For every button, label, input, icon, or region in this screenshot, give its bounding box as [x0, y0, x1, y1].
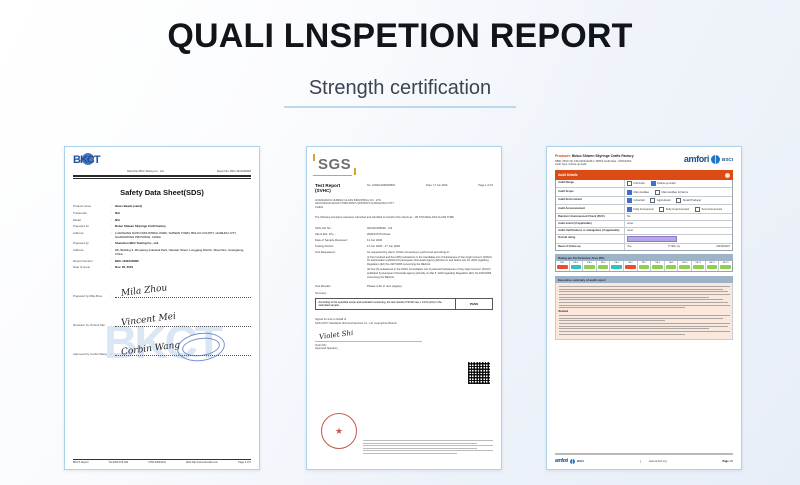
table-row: Overall rating	[556, 235, 732, 244]
rating-pill	[679, 265, 690, 269]
signature-row: Reviewer by Vincent Mei : Vincent Mei	[73, 314, 251, 327]
sds-field: Model:N/A	[73, 218, 251, 222]
rating-pill	[639, 265, 650, 269]
sgs-summary-text: According to the specified scope and eva…	[316, 299, 456, 310]
subtitle-wrap: Strength certification	[284, 77, 516, 108]
rating-pill	[598, 265, 609, 269]
rating-cell: PA 8	[651, 261, 665, 271]
producer-name: Boluo Shiwen Skyringe Crafts Factory	[572, 154, 634, 158]
rating-cell: PA 10	[678, 261, 692, 271]
sgs-field: Testing Period :11 Jun 2020 - 17 Jun 202…	[315, 244, 493, 248]
sgs-summary-box: According to the specified scope and eva…	[315, 298, 493, 311]
rating-cell: PA 5	[610, 261, 624, 271]
audit-details-table: Audit Range Full Audit Follow-up Audit A…	[555, 180, 733, 251]
signature-row: Approved by Corbin Wang : Corbin Wang	[73, 343, 251, 356]
sds-testing-company: Shenzhen BKC Testing Co., Ltd.	[127, 170, 164, 173]
sds-field: Date of Issue:Nov. 26, 2019	[73, 265, 251, 269]
ratings-grid: PA 1 PA 2 PA 3 PA 4 PA 5 PA 6 PA 7 PA 8 …	[555, 261, 733, 272]
ratings-header: Rating per Performance Area (PA)	[555, 254, 733, 261]
sgs-field: Test Requested : As requested by client,…	[315, 250, 493, 280]
subtitle-underline	[284, 106, 516, 108]
sgs-test-results: Test Results : Please refer to next page…	[315, 284, 493, 288]
page-title: QUALI LNSPETION REPORT	[0, 18, 800, 55]
rating-cell: PA 9	[665, 261, 679, 271]
sds-field: Report Number:BKC-191103460R	[73, 259, 251, 263]
table-row: Audit Announcement Fully Announced Fully…	[556, 205, 732, 214]
rating-cell: PA 6	[624, 261, 638, 271]
table-row: Audit extent (if applicable) none	[556, 221, 732, 228]
executive-summary-body: Remark	[555, 283, 733, 339]
rating-pill	[611, 265, 622, 269]
sds-field: Product name:Glass Beads (sand)	[73, 204, 251, 208]
rating-pill	[693, 265, 704, 269]
rating-pill	[666, 265, 677, 269]
report-banner: QUALI LNSPETION REPORT Strength certific…	[0, 0, 800, 485]
audit-details-header: Audit Details	[555, 170, 733, 179]
collapse-icon[interactable]	[725, 173, 730, 178]
sgs-requested-item: (ii) Five (5) substances in the Public C…	[367, 268, 493, 279]
sds-footer: BKC'S Report Tel:4000-575-392 0755-32923…	[73, 459, 251, 465]
sds-rule-thick	[73, 175, 251, 177]
executive-summary-header: Executive summary of audit report	[555, 276, 733, 283]
sds-field: Prepared for:Boluo Shiwen Skyringe Craft…	[73, 224, 251, 228]
sgs-page: Page 1 of 16	[478, 184, 493, 187]
signature-mark: Vincent Mei	[121, 312, 177, 329]
table-row: Audit Scope Main Auditee Main Auditee & …	[556, 188, 732, 197]
rating-pill	[584, 265, 595, 269]
certificate-card-amfori[interactable]: Producer: Boluo Shiwen Skyringe Crafts F…	[546, 146, 742, 470]
sgs-field: Date of Sample Received :11 Jun 2020	[315, 238, 493, 242]
table-row: Need of follow-up Yes If YES, by 09/10/2…	[556, 244, 732, 250]
rating-pill	[557, 265, 568, 269]
producer-meta-2: Audit Type: Follow-up Audit	[555, 163, 634, 166]
producer-label: Producer:	[555, 154, 571, 158]
signature-mark: Corbin Wang	[121, 341, 181, 358]
overall-rating-bar	[627, 236, 677, 241]
sgs-signature-section: Signed for and on behalf of SGS-CSTC Sta…	[315, 318, 493, 350]
rating-pill	[571, 265, 582, 269]
table-row: Audit Range Full Audit Follow-up Audit	[556, 180, 732, 189]
rating-pill	[652, 265, 663, 269]
sgs-logo-icon: SGS	[315, 154, 354, 175]
page-subtitle: Strength certification	[284, 77, 516, 106]
sds-field: Trademark:N/A	[73, 211, 251, 215]
sgs-field: SGS Job No. :GPJ20-006626 - GZ	[315, 226, 493, 230]
bkc-logo-icon: BKCT	[73, 154, 100, 166]
signature-mark: Violet Shi	[319, 329, 354, 341]
amfori-url: www.amfori.org	[640, 460, 667, 463]
amfori-page: Page 1/5	[722, 460, 733, 463]
rating-cell: PA 7	[638, 261, 652, 271]
sds-rule-thin	[73, 178, 251, 179]
rating-pill	[707, 265, 718, 269]
sgs-verdict-badge: PASS	[456, 299, 492, 310]
summary-subheading: Remark	[559, 310, 730, 313]
rating-cell: PA 3	[583, 261, 597, 271]
sgs-footer	[363, 461, 493, 463]
signature-mark: Mila Zhou	[121, 283, 168, 299]
rating-cell: PA 2	[570, 261, 584, 271]
qr-code-icon	[467, 361, 491, 385]
amfori-footer-logo-icon: amforiBSCI	[555, 458, 584, 464]
sgs-field-list: SGS Job No. :GPJ20-006626 - GZ Client Re…	[315, 226, 493, 280]
sds-field-list: Product name:Glass Beads (sand) Trademar…	[73, 204, 251, 269]
rating-cell: PA 1	[556, 261, 570, 271]
sgs-intro: The following sample(s) was/were submitt…	[315, 216, 493, 219]
table-row: Audit clarifications or ambiguities (if …	[556, 228, 732, 235]
rating-cell: PA 13	[719, 261, 732, 271]
sgs-date: Date: 17 Jun 2020	[426, 184, 447, 187]
table-row: Random Unannounced Check (RUC) No	[556, 214, 732, 221]
company-stamp-icon	[175, 330, 226, 364]
sds-title: Safety Data Sheet(SDS)	[73, 188, 251, 197]
sds-field: Prepared by:Shenzhen BKC Testing Co., Lt…	[73, 241, 251, 245]
signature-row: Prepared by Mila Zhou : Mila Zhou	[73, 285, 251, 298]
rating-pill	[625, 265, 636, 269]
sgs-subtitle: (SVHC)	[315, 188, 367, 193]
sds-field: Address:6/F, Building 3, Zhoudeng Indust…	[73, 248, 251, 256]
certificate-card-sgs[interactable]: SGS Test Report (SVHC) No. CANEC20084356…	[306, 146, 502, 470]
red-seal-icon: ★	[321, 413, 357, 449]
sgs-report-no: No. CANEC2008435661	[367, 184, 395, 187]
rating-cell: PA 4	[597, 261, 611, 271]
sgs-requested-item: (i) Two hundred and five (205) substance…	[367, 256, 493, 267]
amfori-header: Producer: Boluo Shiwen Skyringe Crafts F…	[555, 154, 733, 166]
amfori-footer: amforiBSCI www.amfori.org Page 1/5	[555, 453, 733, 464]
sgs-summary-label: Summary :	[315, 292, 493, 295]
banner-header: QUALI LNSPETION REPORT Strength certific…	[0, 18, 800, 108]
sgs-fineprint	[363, 440, 493, 455]
sds-header: BKCT	[73, 154, 251, 166]
sds-report-no: Report No. BKC-191103460R	[217, 170, 251, 173]
amfori-logo-icon: amforiBSCI	[684, 154, 733, 164]
sgs-client-address: GUANGZHOU HUIMIAO GLASS INDUSTRIAL CO., …	[315, 199, 493, 209]
sds-field: Address:LUANGANG DAIFU INDUSTRIAL PARK, …	[73, 231, 251, 239]
sds-signature-block: Prepared by Mila Zhou : Mila Zhou Review…	[73, 285, 251, 356]
certificate-card-sds[interactable]: BKCT Shenzhen BKC Testing Co., Ltd. Repo…	[64, 146, 260, 470]
rating-pill	[720, 265, 731, 269]
table-row: Audit Environment Industrial Agricultura…	[556, 197, 732, 206]
sgs-field: Client Ref. Info. :2020/6.8 Purchase	[315, 232, 493, 236]
rating-cell: PA 11	[692, 261, 706, 271]
rating-cell: PA 12	[706, 261, 720, 271]
